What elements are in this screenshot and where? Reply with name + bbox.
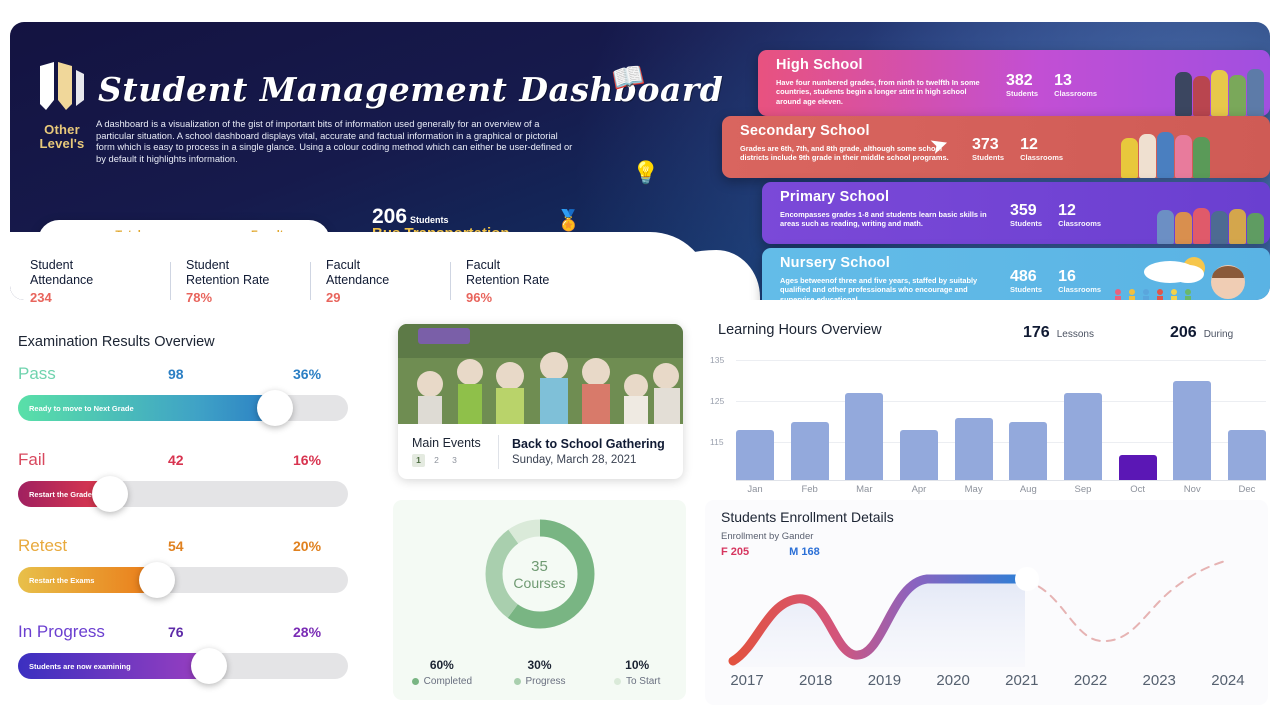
school-classrooms-stat: 13Classrooms bbox=[1054, 72, 1097, 98]
exam-results-list: Pass 98 36% Ready to move to Next Grade … bbox=[18, 364, 366, 708]
bar-jan[interactable] bbox=[736, 430, 774, 480]
school-card-secondary[interactable]: Secondary School Grades are 6th, 7th, an… bbox=[722, 116, 1270, 178]
enrollment-title: Students Enrollment Details bbox=[721, 509, 894, 525]
exam-progress-track[interactable]: Restart the Exams bbox=[18, 567, 348, 593]
exam-progress-knob[interactable] bbox=[191, 648, 227, 684]
school-photo bbox=[1121, 132, 1210, 178]
main-content: Examination Results Overview Pass 98 36%… bbox=[0, 302, 1280, 720]
exam-count: 98 bbox=[168, 366, 293, 382]
bar-feb[interactable] bbox=[791, 422, 829, 480]
exam-progress-knob[interactable] bbox=[139, 562, 175, 598]
kpi-lessons: 176 Lessons bbox=[1023, 324, 1094, 342]
exam-label: Pass bbox=[18, 364, 168, 384]
medal-icon: 🏅 bbox=[556, 208, 581, 233]
learning-hours-bar-chart: 135 125 115 bbox=[736, 360, 1266, 480]
legend-item-progress: 30% Progress bbox=[491, 658, 589, 687]
school-students-stat: 486Students bbox=[1010, 268, 1042, 294]
enrollment-current-point bbox=[1015, 567, 1039, 591]
school-classrooms-stat: 12Classrooms bbox=[1058, 202, 1101, 228]
exam-count: 42 bbox=[168, 452, 293, 468]
kpi-faculty-attendance: FacultAttendance 29 bbox=[310, 258, 450, 305]
y-tick-115: 115 bbox=[710, 437, 724, 447]
bus-students-unit: Students bbox=[410, 215, 449, 225]
event-photo bbox=[398, 324, 683, 424]
event-pager[interactable]: 1 2 3 bbox=[412, 454, 498, 467]
lightbulb-icon: 💡 bbox=[632, 160, 659, 186]
school-description: Have four numbered grades, from ninth to… bbox=[776, 78, 991, 106]
bar-dec[interactable] bbox=[1228, 430, 1266, 480]
donut-chart: 35 Courses bbox=[478, 512, 602, 641]
exam-progress-track[interactable]: Restart the Grade bbox=[18, 481, 348, 507]
school-card-primary[interactable]: Primary School Encompasses grades 1-8 an… bbox=[762, 182, 1270, 244]
bar-mar[interactable] bbox=[845, 393, 883, 480]
event-page-2[interactable]: 2 bbox=[430, 454, 443, 467]
event-info: Main Events 1 2 3 Back to School Gatheri… bbox=[398, 424, 683, 479]
school-description: Grades are 6th, 7th, and 8th grade, alth… bbox=[740, 144, 955, 163]
school-classrooms-stat: 12Classrooms bbox=[1020, 136, 1063, 162]
school-classrooms-stat: 16Classrooms bbox=[1058, 268, 1101, 294]
exam-label: Fail bbox=[18, 450, 168, 470]
bar-series bbox=[736, 360, 1266, 480]
exam-percent: 36% bbox=[293, 366, 321, 382]
exam-progress-knob[interactable] bbox=[257, 390, 293, 426]
main-events-card[interactable]: Main Events 1 2 3 Back to School Gatheri… bbox=[398, 324, 683, 479]
school-name: Primary School bbox=[780, 189, 889, 205]
main-events-label: Main Events bbox=[412, 436, 498, 450]
exam-label: Retest bbox=[18, 536, 168, 556]
exam-count: 54 bbox=[168, 538, 293, 554]
exam-row-retest: Retest 54 20% Restart the Exams bbox=[18, 536, 366, 622]
logo-line-1: Other bbox=[32, 123, 92, 137]
exam-section-title: Examination Results Overview bbox=[18, 334, 215, 350]
exam-label: In Progress bbox=[18, 622, 168, 642]
school-description: Encompasses grades 1-8 and students lear… bbox=[780, 210, 995, 229]
dashboard-screen: Other Level's Student Management Dashboa… bbox=[0, 0, 1280, 720]
bar-may[interactable] bbox=[955, 418, 993, 480]
event-page-3[interactable]: 3 bbox=[448, 454, 461, 467]
legend-item-to-start: 10% To Start bbox=[588, 658, 686, 687]
school-description: Ages betweenof three and five years, sta… bbox=[780, 276, 995, 300]
school-name: High School bbox=[776, 57, 863, 73]
exam-progress-track[interactable]: Ready to move to Next Grade bbox=[18, 395, 348, 421]
exam-percent: 28% bbox=[293, 624, 321, 640]
exam-progress-track[interactable]: Students are now examining bbox=[18, 653, 348, 679]
enrollment-line-chart bbox=[705, 555, 1268, 667]
exam-row-fail: Fail 42 16% Restart the Grade bbox=[18, 450, 366, 536]
exam-caption: Ready to move to Next Grade bbox=[29, 404, 134, 413]
bar-aug[interactable] bbox=[1009, 422, 1047, 480]
logo-icon bbox=[32, 60, 92, 114]
school-students-stat: 373Students bbox=[972, 136, 1004, 162]
legend-item-completed: 60% Completed bbox=[393, 658, 491, 687]
school-students-stat: 382Students bbox=[1006, 72, 1038, 98]
enrollment-subtitle: Enrollment by Gander bbox=[721, 531, 813, 542]
school-name: Nursery School bbox=[780, 255, 890, 271]
kpi-student-attendance: StudentAttendance 234 bbox=[30, 258, 170, 305]
donut-legend: 60% Completed 30% Progress 10% To Start bbox=[393, 658, 686, 687]
event-headline: Back to School Gathering bbox=[512, 437, 665, 451]
kpi-student-retention-rate: StudentRetention Rate 78% bbox=[170, 258, 310, 305]
exam-caption: Restart the Grade bbox=[29, 490, 92, 499]
exam-progress-knob[interactable] bbox=[92, 476, 128, 512]
event-date: Sunday, March 28, 2021 bbox=[512, 454, 665, 466]
y-tick-135: 135 bbox=[710, 355, 724, 365]
exam-percent: 16% bbox=[293, 452, 321, 468]
hero-description: A dashboard is a visualization of the gi… bbox=[96, 118, 576, 164]
nursery-illustration bbox=[1108, 252, 1258, 300]
enrollment-x-labels: 2017 2018 2019 2020 2021 2022 2023 2024 bbox=[715, 672, 1260, 689]
exam-count: 76 bbox=[168, 624, 293, 640]
bar-sep[interactable] bbox=[1064, 393, 1102, 480]
school-photo bbox=[1157, 208, 1264, 244]
bar-nov[interactable] bbox=[1173, 381, 1211, 480]
kpi-during: 206 During bbox=[1170, 324, 1233, 342]
exam-row-pass: Pass 98 36% Ready to move to Next Grade bbox=[18, 364, 366, 450]
kpi-faculty-retention-rate: FacultRetention Rate 96% bbox=[450, 258, 590, 305]
bar-oct[interactable] bbox=[1119, 455, 1157, 480]
event-page-1[interactable]: 1 bbox=[412, 454, 425, 467]
school-card-high[interactable]: High School Have four numbered grades, f… bbox=[758, 50, 1270, 116]
y-tick-125: 125 bbox=[710, 396, 724, 406]
event-photo-illustration bbox=[398, 324, 683, 424]
book-icon: 📖 bbox=[609, 59, 647, 96]
courses-donut-card: 35 Courses 60% Completed 30% Progress 10… bbox=[393, 500, 686, 700]
school-name: Secondary School bbox=[740, 123, 870, 139]
logo-line-2: Level's bbox=[32, 137, 92, 151]
bar-chart-x-labels: Jan Feb Mar Apr May Aug Sep Oct Nov Dec bbox=[736, 484, 1266, 495]
school-photo bbox=[1175, 69, 1264, 116]
enrollment-card: Students Enrollment Details Enrollment b… bbox=[705, 500, 1268, 705]
exam-row-in-progress: In Progress 76 28% Students are now exam… bbox=[18, 622, 366, 708]
school-students-stat: 359Students bbox=[1010, 202, 1042, 228]
kpi-strip: StudentAttendance 234 StudentRetention R… bbox=[30, 258, 590, 305]
donut-center-label: 35 Courses bbox=[478, 512, 602, 636]
learning-hours-title: Learning Hours Overview bbox=[718, 322, 882, 338]
bar-apr[interactable] bbox=[900, 430, 938, 480]
brand-logo: Other Level's bbox=[32, 60, 92, 151]
exam-caption: Students are now examining bbox=[29, 662, 131, 671]
school-card-nursery[interactable]: Nursery School Ages betweenof three and … bbox=[762, 248, 1270, 300]
exam-caption: Restart the Exams bbox=[29, 576, 94, 585]
exam-percent: 20% bbox=[293, 538, 321, 554]
